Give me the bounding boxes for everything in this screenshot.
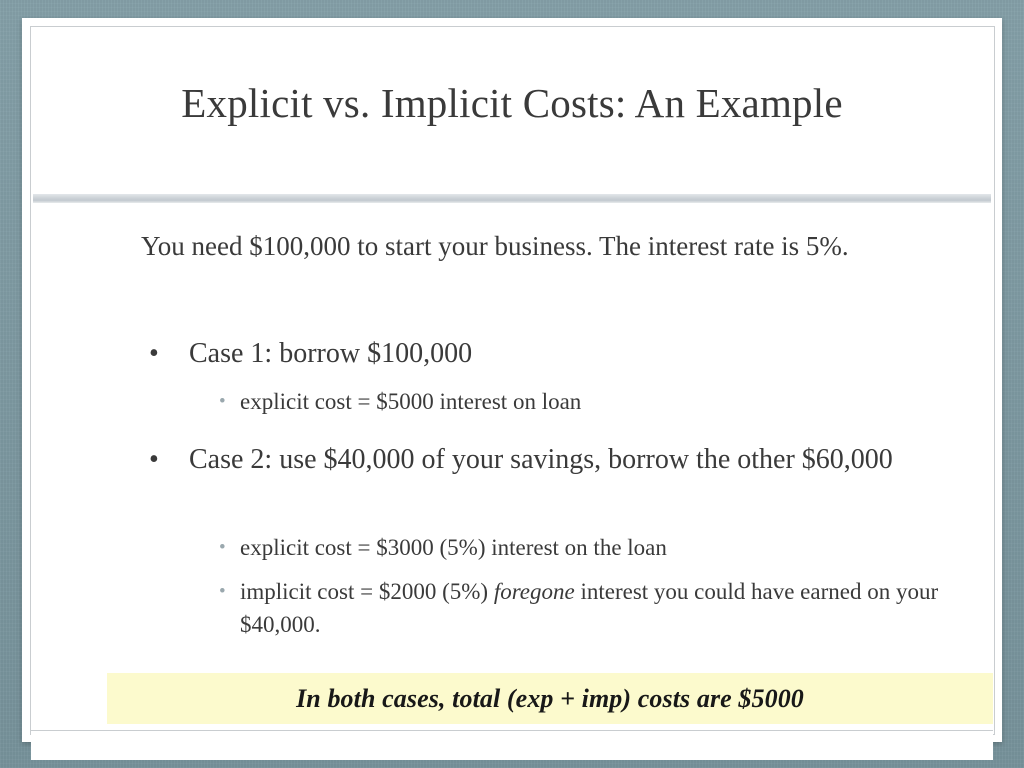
bullet-case-1-label: Case 1: borrow $100,000	[189, 334, 943, 374]
bullet-case-2-explicit-cost: • explicit cost = $3000 (5%) interest on…	[211, 532, 971, 565]
bullet-case-2-implicit-cost: • implicit cost = $2000 (5%) foregone in…	[211, 576, 971, 641]
intro-line-1: You need $100,000 to start your business…	[141, 231, 593, 261]
bullet-marker-icon: •	[149, 440, 159, 480]
bullet-case-1-explicit-cost: • explicit cost = $5000 interest on loan	[211, 386, 971, 419]
intro-paragraph: You need $100,000 to start your business…	[141, 228, 967, 266]
bullet-case-1-explicit-cost-label: explicit cost = $5000 interest on loan	[240, 386, 971, 419]
sub-bullet-marker-icon: •	[219, 532, 226, 565]
slide-title-block: Explicit vs. Implicit Costs: An Example	[31, 27, 993, 180]
bullet-marker-icon: •	[149, 334, 159, 374]
slide-body-block: You need $100,000 to start your business…	[31, 214, 993, 662]
slide-footer-strip	[31, 731, 993, 760]
implicit-text-emphasis: foregone	[494, 579, 575, 604]
bullet-case-2-label: Case 2: use $40,000 of your savings, bor…	[189, 440, 943, 480]
sub-bullet-marker-icon: •	[219, 386, 226, 419]
intro-line-2: The interest rate is 5%.	[599, 231, 849, 261]
bullet-case-1: • Case 1: borrow $100,000	[143, 334, 943, 374]
bullet-case-2: • Case 2: use $40,000 of your savings, b…	[143, 440, 943, 480]
implicit-text-before: implicit cost = $2000 (5%)	[240, 579, 494, 604]
title-divider-rule	[33, 194, 991, 203]
page-title: Explicit vs. Implicit Costs: An Example	[162, 77, 862, 129]
conclusion-highlight-text: In both cases, total (exp + imp) costs a…	[296, 684, 804, 714]
slide-canvas: Explicit vs. Implicit Costs: An Example …	[22, 18, 1002, 742]
bullet-case-2-implicit-cost-label: implicit cost = $2000 (5%) foregone inte…	[240, 576, 971, 641]
bullet-case-2-explicit-cost-label: explicit cost = $3000 (5%) interest on t…	[240, 532, 971, 565]
sub-bullet-marker-icon: •	[219, 576, 226, 609]
conclusion-highlight-box: In both cases, total (exp + imp) costs a…	[107, 673, 993, 724]
